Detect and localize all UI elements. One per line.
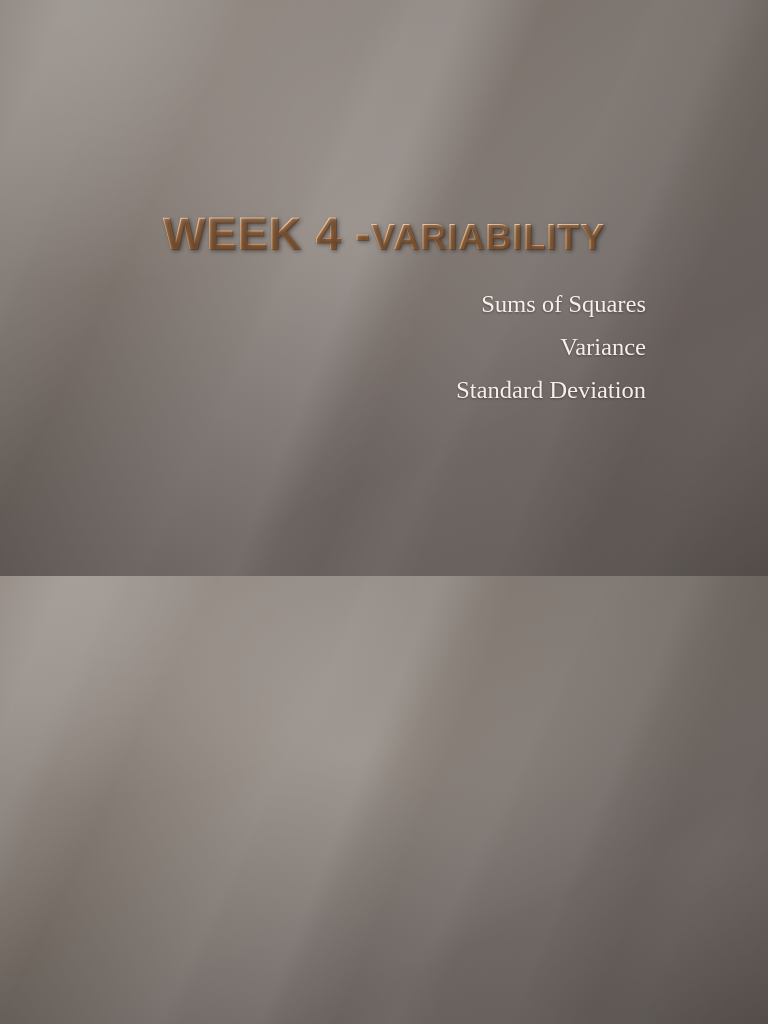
title-topic-label: VARIABILITY [371,216,605,258]
slide-variability: Variability □ How different (or similar)… [0,576,768,1024]
subtitle-list: Sums of Squares Variance Standard Deviat… [0,283,768,412]
slide-title: WEEK 4 - VARIABILITY Sums of Squares Var… [0,0,768,576]
subtitle-line: Standard Deviation [0,369,646,412]
slide-deck: WEEK 4 - VARIABILITY Sums of Squares Var… [0,0,768,1024]
slide-background [0,576,768,1024]
subtitle-line: Sums of Squares [0,283,646,326]
subtitle-line: Variance [0,326,646,369]
title-week-label: WEEK 4 - [163,208,371,260]
page-title: WEEK 4 - VARIABILITY [0,208,768,260]
